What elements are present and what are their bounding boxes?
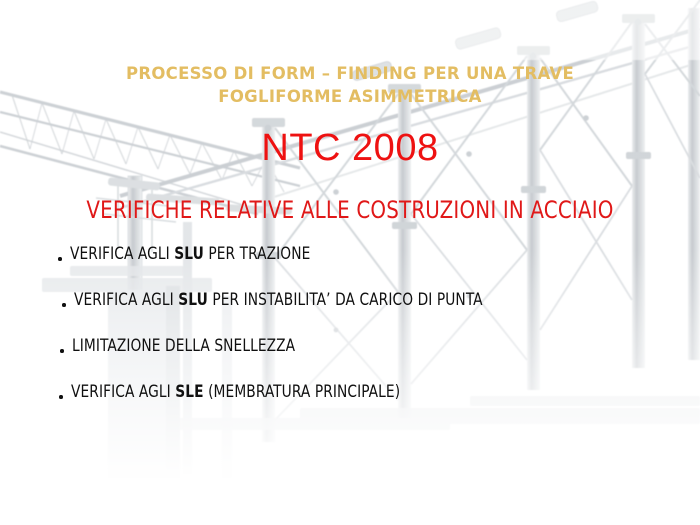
slide-canvas: PROCESSO DI FORM – FINDING PER UNA TRAVE…	[0, 0, 700, 525]
bullet-emphasis: SLU	[178, 290, 208, 310]
bullet-text-after: (MEMBRATURA PRINCIPALE)	[204, 382, 401, 402]
bullet-dot-icon	[60, 349, 64, 353]
bullet-text: LIMITAZIONE DELLA SNELLEZZA	[72, 336, 295, 356]
list-item: VERIFICA AGLI SLU PER TRAZIONE	[54, 242, 674, 288]
slide-content: PROCESSO DI FORM – FINDING PER UNA TRAVE…	[0, 0, 700, 525]
list-item: VERIFICA AGLI SLE (MEMBRATURA PRINCIPALE…	[54, 380, 674, 426]
bullet-text: VERIFICA AGLI SLE (MEMBRATURA PRINCIPALE…	[71, 382, 400, 402]
bullet-emphasis: SLU	[174, 244, 204, 264]
list-item: VERIFICA AGLI SLU PER INSTABILITA’ DA CA…	[54, 288, 674, 334]
bullet-text-before: VERIFICA AGLI	[74, 290, 178, 310]
bullet-emphasis: SLE	[175, 382, 203, 402]
list-item: LIMITAZIONE DELLA SNELLEZZA	[54, 334, 674, 380]
slide-title: PROCESSO DI FORM – FINDING PER UNA TRAVE…	[60, 62, 640, 108]
bullet-text-before: VERIFICA AGLI	[70, 244, 174, 264]
bullet-list: VERIFICA AGLI SLU PER TRAZIONE VERIFICA …	[54, 242, 674, 426]
bullet-text-after: PER INSTABILITA’ DA CARICO DI PUNTA	[208, 290, 483, 310]
bullet-text-before: VERIFICA AGLI	[71, 382, 175, 402]
bullet-text-before: LIMITAZIONE DELLA SNELLEZZA	[72, 336, 295, 356]
bullet-text: VERIFICA AGLI SLU PER TRAZIONE	[70, 244, 310, 264]
bullet-dot-icon	[62, 303, 66, 307]
bullet-dot-icon	[58, 257, 62, 261]
bullet-dot-icon	[59, 395, 63, 399]
slide-subtitle: VERIFICHE RELATIVE ALLE COSTRUZIONI IN A…	[28, 196, 672, 224]
bullet-text: VERIFICA AGLI SLU PER INSTABILITA’ DA CA…	[74, 290, 483, 310]
bullet-text-after: PER TRAZIONE	[204, 244, 311, 264]
headline-ntc-2008: NTC 2008	[0, 127, 700, 170]
